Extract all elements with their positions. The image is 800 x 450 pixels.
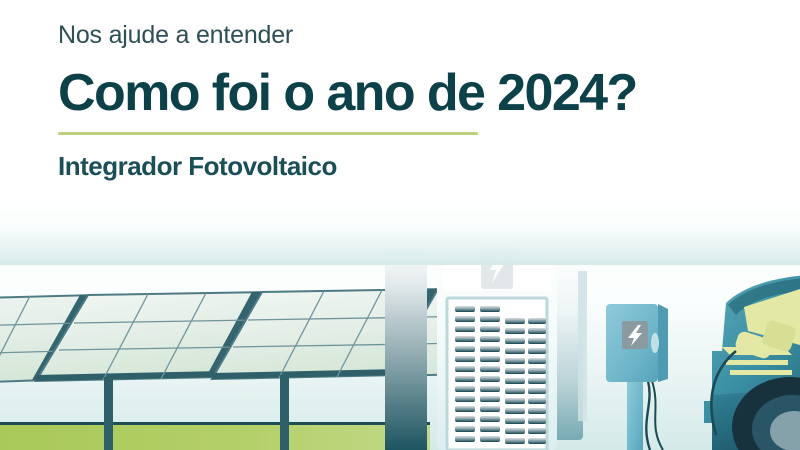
solar-ev-scene-svg: [0, 195, 800, 450]
title-divider: [58, 132, 478, 135]
cabinet-left-column: [385, 243, 427, 450]
header-text-block: Nos ajude a entender Como foi o ano de 2…: [58, 22, 778, 181]
hero-banner: Nos ajude a entender Como foi o ano de 2…: [0, 0, 800, 450]
eyebrow-text: Nos ajude a entender: [58, 22, 778, 50]
hero-illustration: [0, 195, 800, 450]
panel-post: [104, 377, 113, 450]
top-fade-overlay: [0, 195, 800, 265]
charger-handle: [651, 333, 659, 353]
page-subtitle: Integrador Fotovoltaico: [58, 152, 778, 181]
ground-strip: [0, 422, 430, 450]
page-title: Como foi o ano de 2024?: [58, 66, 778, 121]
panel-post: [280, 375, 289, 450]
charger-body-side: [658, 304, 668, 382]
charger-post: [627, 380, 643, 450]
charging-cabinet: [385, 243, 587, 450]
lightning-bolt-icon: [622, 321, 648, 349]
